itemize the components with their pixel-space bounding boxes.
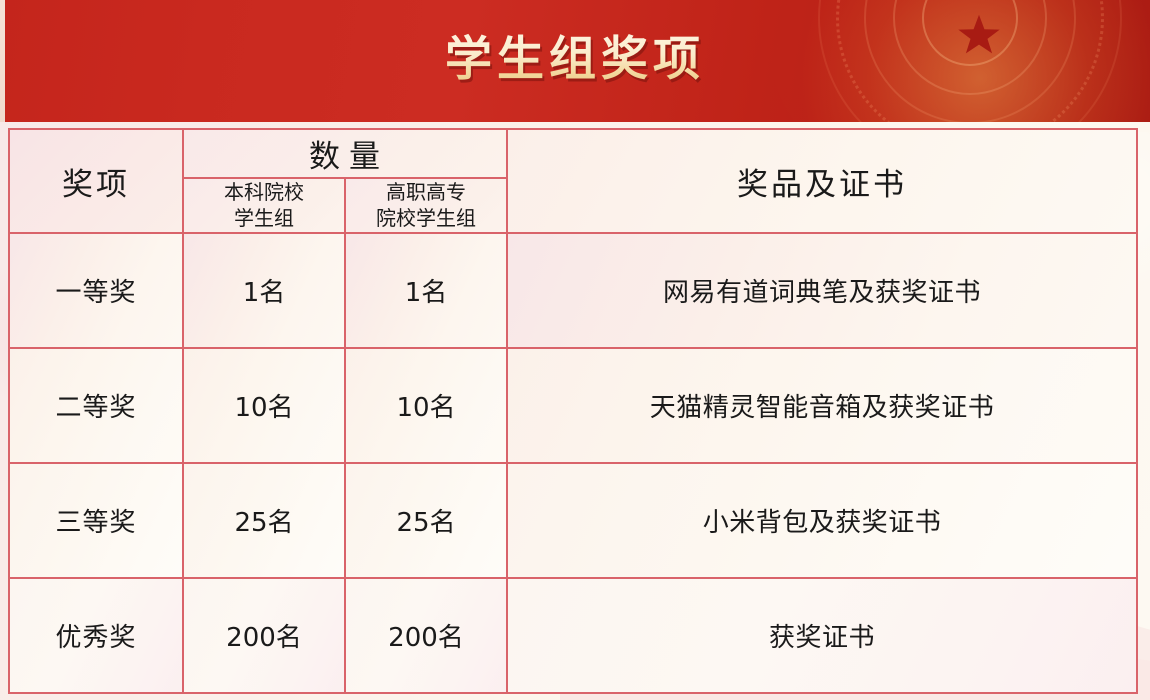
undergrad-label-line2: 学生组 [185,206,343,232]
awards-table-body: 一等奖 1名 1名 网易有道词典笔及获奖证书 二等奖 10名 10名 天猫精灵智… [9,233,1137,693]
cell-count-undergrad: 25名 [183,463,345,578]
awards-table-head: 奖项 数量 奖品及证书 本科院校 学生组 高职高专 院校学生组 [9,129,1137,233]
column-header-vocational-group: 高职高专 院校学生组 [345,178,507,233]
cell-award-level: 一等奖 [9,233,183,348]
cell-count-vocational: 1名 [345,233,507,348]
cell-count-undergrad: 10名 [183,348,345,463]
column-header-prize: 奖品及证书 [507,129,1137,233]
table-row: 一等奖 1名 1名 网易有道词典笔及获奖证书 [9,233,1137,348]
cell-count-vocational: 200名 [345,578,507,693]
awards-table-section: 奖项 数量 奖品及证书 本科院校 学生组 高职高专 院校学生组 [0,122,1150,700]
table-header-row-1: 奖项 数量 奖品及证书 [9,129,1137,178]
cell-award-level: 三等奖 [9,463,183,578]
column-header-undergraduate-group: 本科院校 学生组 [183,178,345,233]
cell-award-level: 优秀奖 [9,578,183,693]
student-group-awards-poster: 学生组奖项 奖项 数量 奖品及证书 本科院校 学生组 [0,0,1150,700]
column-header-count: 数量 [183,129,507,178]
cell-award-level: 二等奖 [9,348,183,463]
table-row: 二等奖 10名 10名 天猫精灵智能音箱及获奖证书 [9,348,1137,463]
vocational-label-line2: 院校学生组 [347,206,505,232]
cell-count-undergrad: 200名 [183,578,345,693]
page-title: 学生组奖项 [0,28,1150,92]
awards-table: 奖项 数量 奖品及证书 本科院校 学生组 高职高专 院校学生组 [8,128,1138,694]
cell-prize-description: 网易有道词典笔及获奖证书 [507,233,1137,348]
table-row: 优秀奖 200名 200名 获奖证书 [9,578,1137,693]
cell-prize-description: 天猫精灵智能音箱及获奖证书 [507,348,1137,463]
vocational-label-line1: 高职高专 [347,180,505,206]
undergrad-label-line1: 本科院校 [185,180,343,206]
cell-count-vocational: 25名 [345,463,507,578]
cell-prize-description: 获奖证书 [507,578,1137,693]
cell-count-vocational: 10名 [345,348,507,463]
poster-banner: 学生组奖项 [0,0,1150,122]
cell-prize-description: 小米背包及获奖证书 [507,463,1137,578]
cell-count-undergrad: 1名 [183,233,345,348]
table-row: 三等奖 25名 25名 小米背包及获奖证书 [9,463,1137,578]
column-header-award: 奖项 [9,129,183,233]
